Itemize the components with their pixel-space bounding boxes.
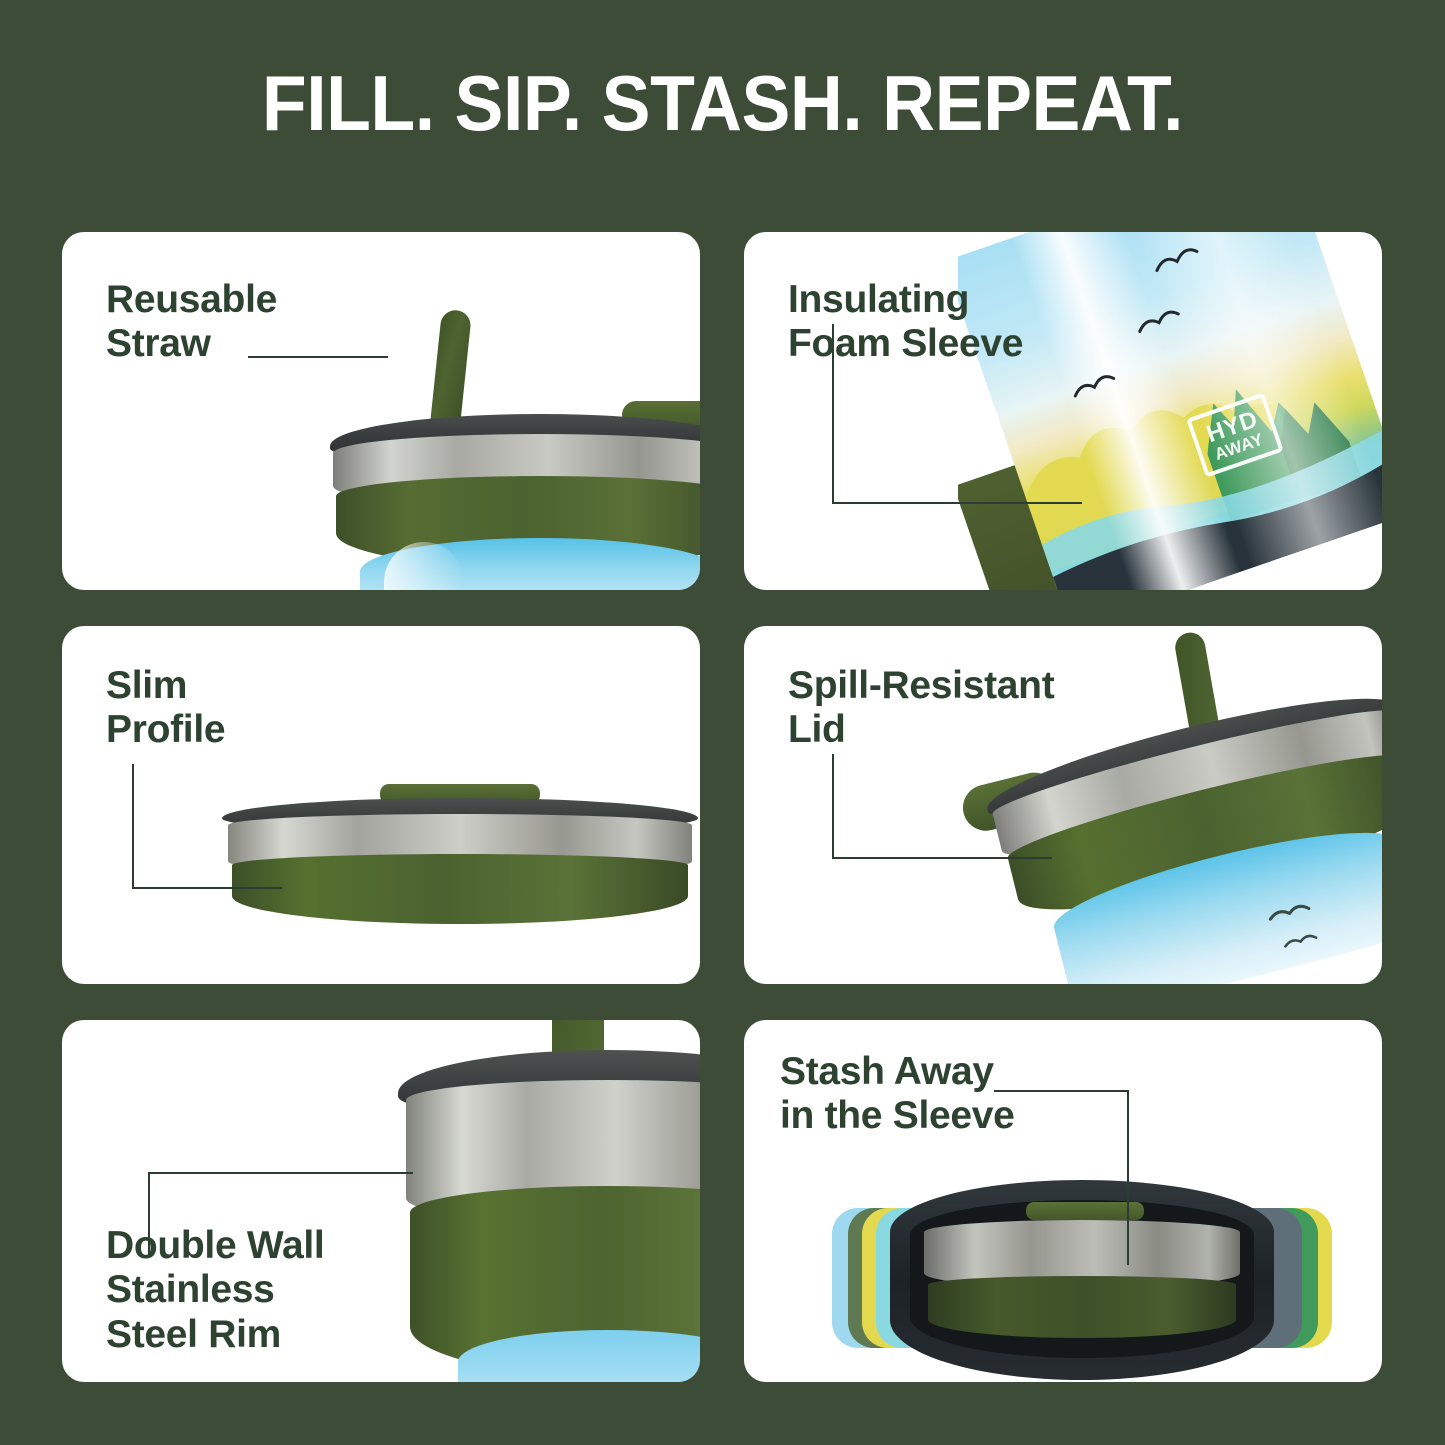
feature-card-spill-resistant-lid: Spill-Resistant Lid — [744, 626, 1382, 984]
feature-card-double-wall-steel-rim: Double Wall Stainless Steel Rim — [62, 1020, 700, 1382]
leader-line-spill-resistant-lid — [832, 754, 1052, 859]
feature-label-stash-away-in-sleeve: Stash Away in the Sleeve — [780, 1050, 1015, 1139]
rim-closeup-illustration — [398, 1020, 700, 1382]
feature-card-grid: Reusable Straw — [62, 232, 1382, 1382]
feature-label-spill-resistant-lid: Spill-Resistant Lid — [788, 664, 1054, 753]
leader-line-slim-profile — [132, 764, 282, 889]
feature-label-slim-profile: Slim Profile — [106, 664, 225, 753]
feature-label-reusable-straw: Reusable Straw — [106, 278, 277, 367]
feature-label-insulating-foam-sleeve: Insulating Foam Sleeve — [788, 278, 1023, 367]
silicone-base-icon — [928, 1276, 1236, 1338]
page-title: FILL. SIP. STASH. REPEAT. — [43, 58, 1401, 149]
feature-card-slim-profile: Slim Profile — [62, 626, 700, 984]
tumbler-top-illustration — [330, 310, 700, 590]
feature-card-stash-away-in-sleeve: Stash Away in the Sleeve — [744, 1020, 1382, 1382]
silicone-base-icon — [232, 854, 688, 924]
collapsed-tumbler-illustration — [222, 784, 698, 934]
feature-label-double-wall-steel-rim: Double Wall Stainless Steel Rim — [106, 1224, 324, 1357]
feature-card-insulating-foam-sleeve: HYD AWAY Insulating Foam Sleeve — [744, 232, 1382, 590]
feature-card-reusable-straw: Reusable Straw — [62, 232, 700, 590]
